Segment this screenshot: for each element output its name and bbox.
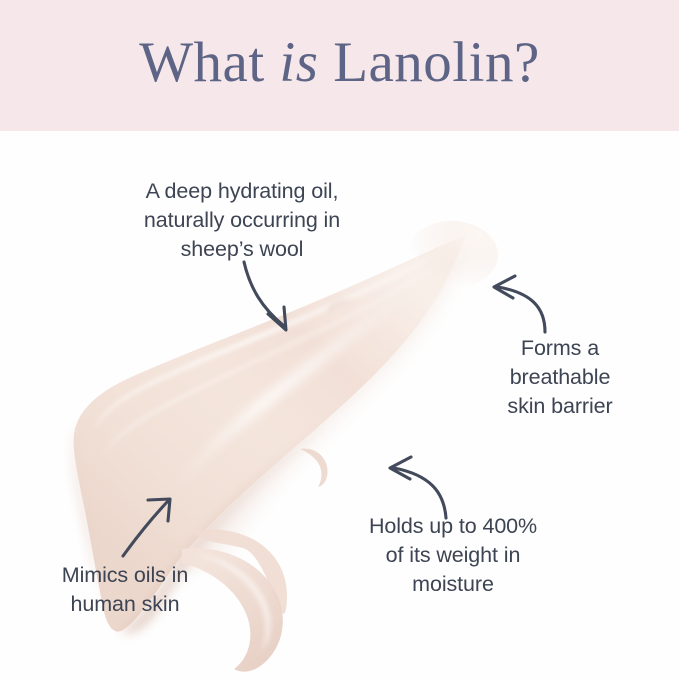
callout-deep-hydrating-oil: A deep hydrating oil, naturally occurrin… [92,177,392,264]
lanolin-infographic: What is Lanolin? [0,0,679,679]
header-band: What is Lanolin? [0,0,679,131]
page-title: What is Lanolin? [139,33,540,99]
title-text-leading: What [139,31,279,94]
callout-holds-moisture: Holds up to 400% of its weight in moistu… [330,512,576,599]
title-text-emphasis: is [279,31,318,94]
swatch-tip-glow [406,221,498,289]
title-text-trailing: Lanolin? [318,31,539,94]
callout-breathable-barrier: Forms a breathable skin barrier [482,334,638,421]
callout-mimics-skin-oils: Mimics oils in human skin [34,561,216,619]
swatch-drip [300,449,328,487]
